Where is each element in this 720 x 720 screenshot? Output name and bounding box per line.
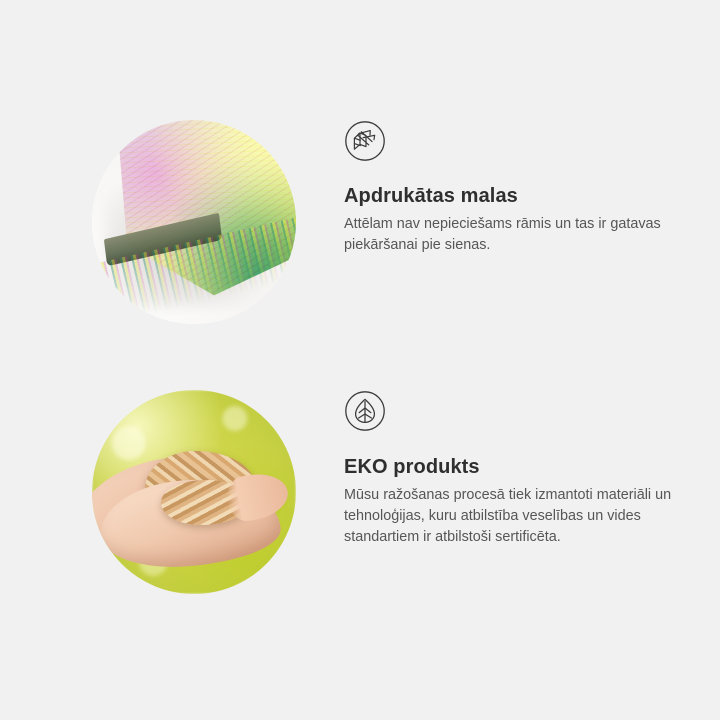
feature-text-column: Apdrukātas malas Attēlam nav nepieciešam… [344, 120, 684, 256]
eco-photo-layers [92, 390, 296, 594]
feature-description: Attēlam nav nepieciešams rāmis un tas ir… [344, 214, 680, 256]
feature-title: Apdrukātas malas [344, 185, 684, 208]
leaf-icon [344, 390, 386, 432]
canvas-print-corner-photo [92, 120, 296, 324]
feature-text-column: EKO produkts Mūsu ražošanas procesā tiek… [344, 390, 684, 548]
printed-edges-icon [344, 120, 386, 162]
canvas-photo-layers [92, 120, 296, 324]
product-features-page: Apdrukātas malas Attēlam nav nepieciešam… [0, 0, 720, 720]
feature-title: EKO produkts [344, 456, 684, 479]
feature-description: Mūsu ražošanas procesā tiek izmantoti ma… [344, 485, 680, 548]
hands-holding-wood-chips-photo [92, 390, 296, 594]
